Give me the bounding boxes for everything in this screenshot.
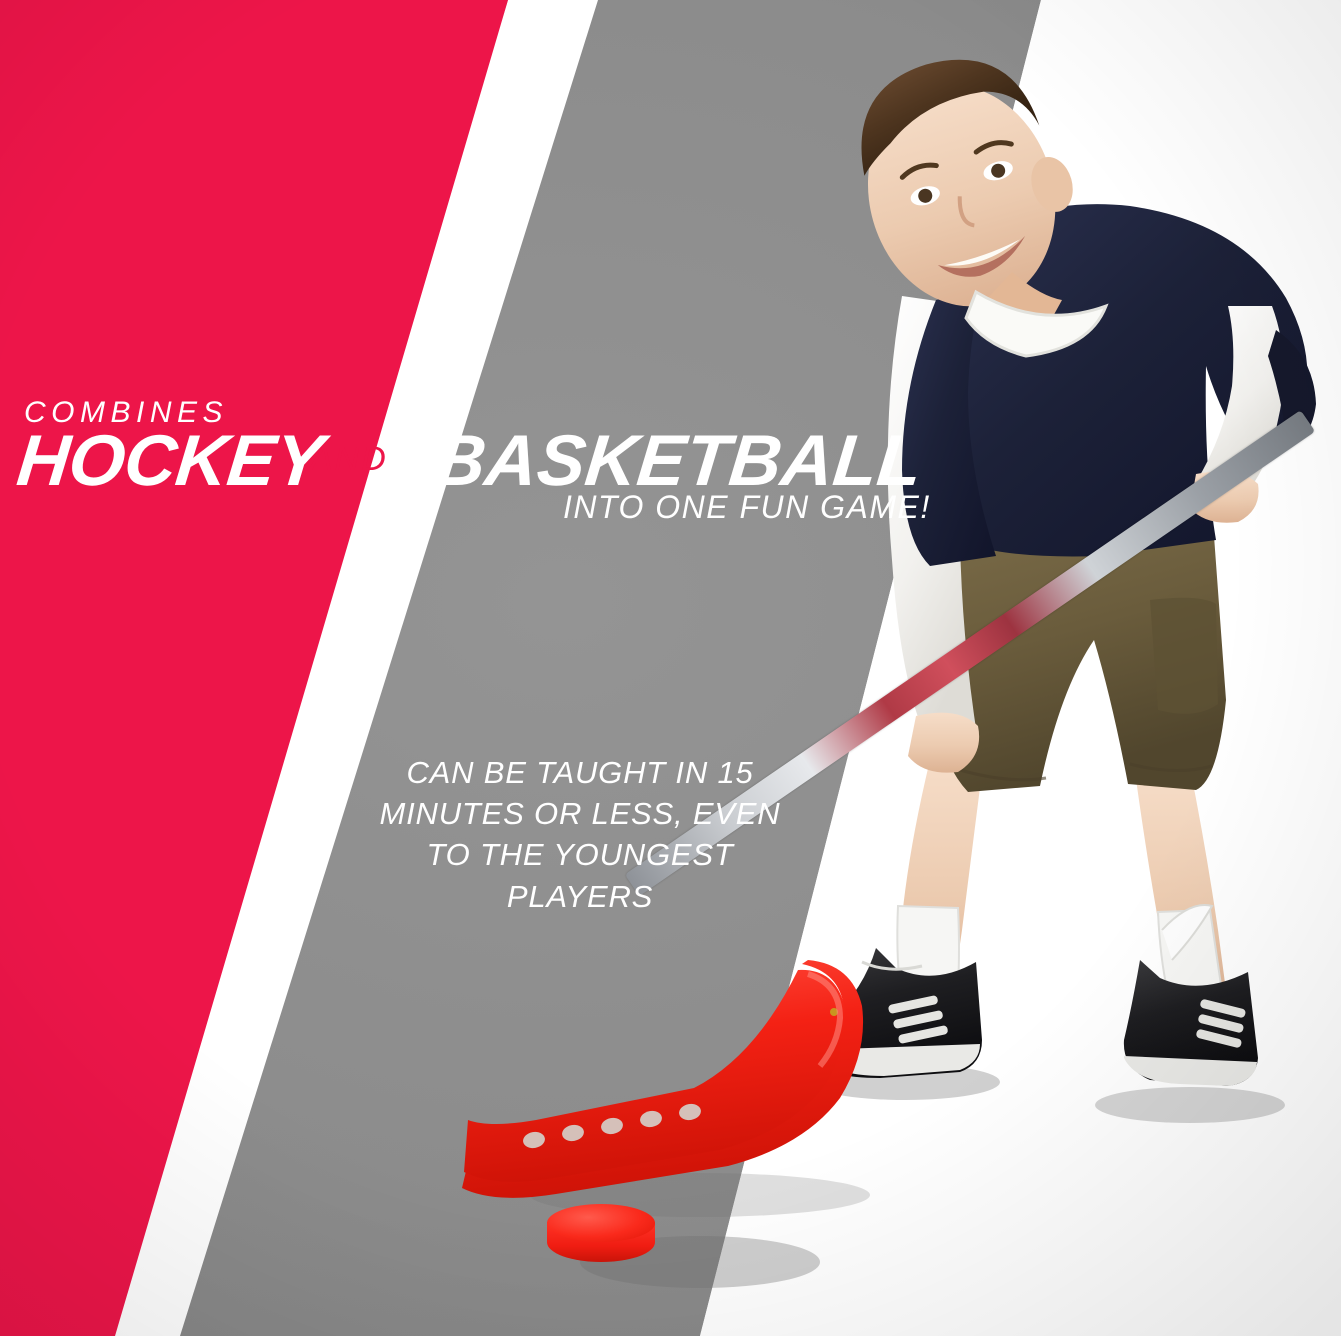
callout-teaching-time: CAN BE TAUGHT IN 15 MINUTES OR LESS, EVE… — [350, 752, 810, 917]
headline-hockey: HOCKEY — [13, 420, 327, 502]
callout-line-1: CAN BE TAUGHT IN 15 — [350, 752, 810, 793]
product-photo-boy-with-hockey-stick — [0, 0, 1341, 1336]
hockey-stick-blade-group — [448, 960, 868, 1210]
cargo-pocket — [1150, 598, 1218, 714]
subhead-into-one-fun-game: INTO ONE FUN GAME! — [563, 489, 931, 526]
callout-line-3: TO THE YOUNGEST PLAYERS — [350, 834, 810, 916]
right-shoe — [1124, 905, 1258, 1086]
left-hand — [908, 713, 979, 773]
product-feature-poster: COMBINES HOCKEY AND BASKETBALL INTO ONE … — [0, 0, 1341, 1336]
headline-and: AND — [310, 440, 388, 479]
shadow-right-shoe — [1095, 1087, 1285, 1123]
callout-line-2: MINUTES OR LESS, EVEN — [350, 793, 810, 834]
